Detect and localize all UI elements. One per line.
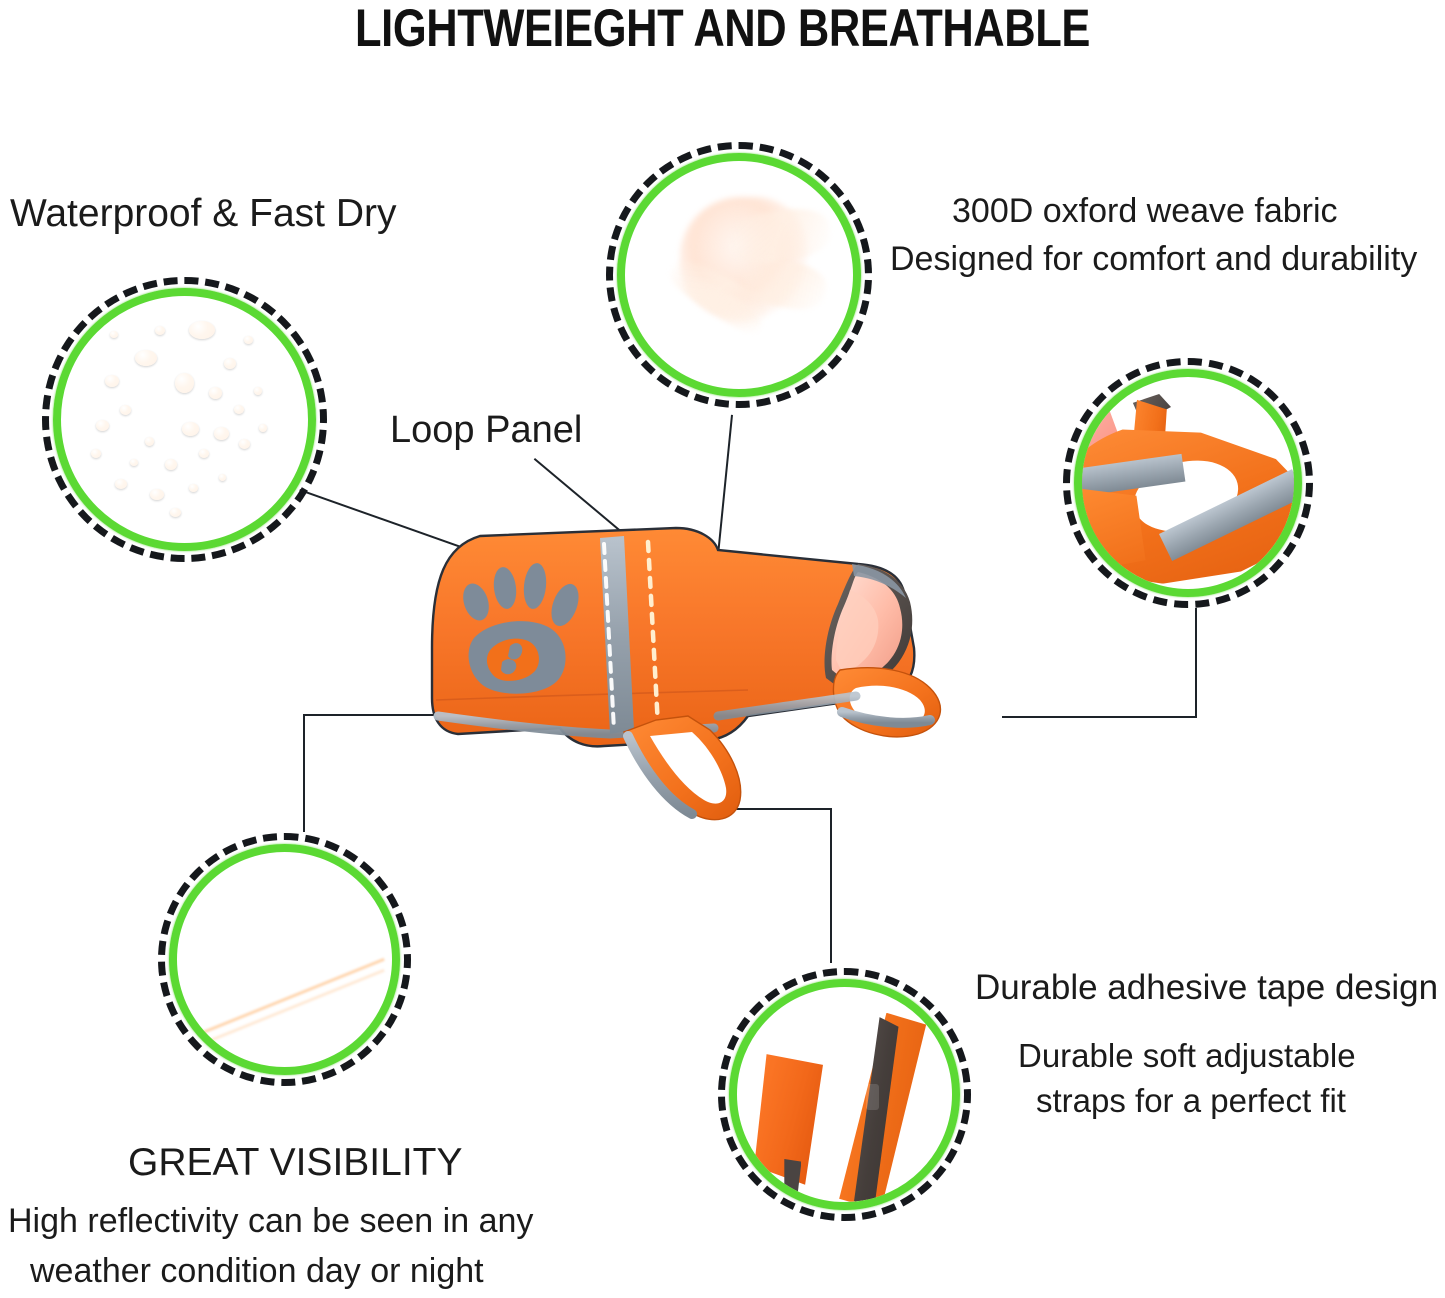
callout-bubble-collar-strap [1063,358,1313,608]
label-straps-line1: Durable soft adjustable [1018,1037,1356,1075]
label-tape-design: Durable adhesive tape design [975,968,1438,1008]
callout-bubble-visibility [158,833,411,1086]
label-great-visibility: GREAT VISIBILITY [128,1141,463,1185]
bubble-dashed-outline [1063,358,1313,608]
infographic-canvas: LIGHTWEIEGHT AND BREATHABLE Waterproof &… [0,0,1445,1298]
callout-bubble-fabric [606,142,872,408]
page-title: LIGHTWEIEGHT AND BREATHABLE [130,0,1315,59]
connector-collar-v [1195,608,1197,718]
connector-visibility-v [303,714,305,832]
label-waterproof: Waterproof & Fast Dry [10,192,396,236]
label-fabric-line1: 300D oxford weave fabric [952,192,1338,231]
label-loop-panel: Loop Panel [390,409,582,452]
label-straps-line2: straps for a perfect fit [1036,1082,1346,1120]
product-dog-coat-illustration [418,520,1043,850]
callout-bubble-adhesive-tape [718,968,971,1221]
label-visibility-line1: High reflectivity can be seen in any [8,1202,533,1241]
label-visibility-line2: weather condition day or night [30,1252,484,1291]
bubble-dashed-outline [606,142,872,408]
bubble-dashed-outline [718,968,971,1221]
callout-bubble-waterproof [42,277,327,562]
bubble-dashed-outline [42,277,327,562]
bubble-dashed-outline [158,833,411,1086]
label-fabric-line2: Designed for comfort and durability [890,240,1417,279]
